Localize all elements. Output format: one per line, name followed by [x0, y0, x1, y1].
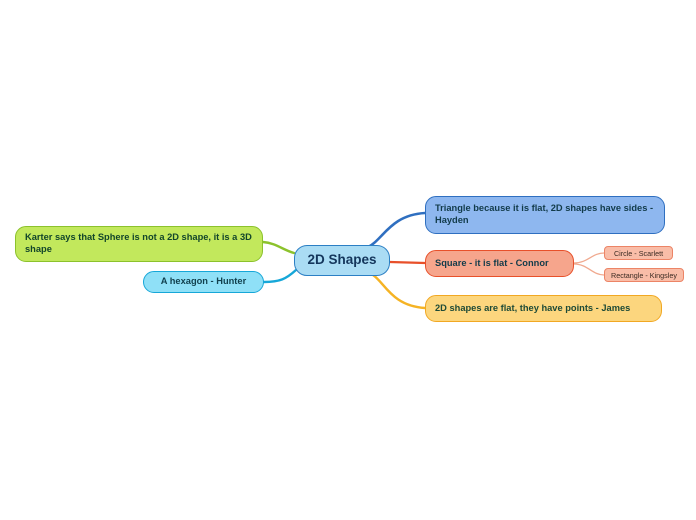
connector-square-to-circle — [574, 253, 604, 263]
node-karter-label: Karter says that Sphere is not a 2D shap… — [25, 232, 253, 255]
connector-square-to-rectangle — [574, 264, 604, 275]
central-node-label: 2D Shapes — [295, 252, 389, 269]
node-karter-sphere[interactable]: Karter says that Sphere is not a 2D shap… — [15, 226, 263, 262]
subnode-rectangle-kingsley[interactable]: Rectangle - Kingsley — [604, 268, 684, 282]
connector-root-to-hexagon — [264, 270, 296, 282]
node-square-connor[interactable]: Square - it is flat - Connor — [425, 250, 574, 277]
connector-root-to-james — [373, 275, 425, 308]
node-triangle-hayden[interactable]: Triangle because it is flat, 2D shapes h… — [425, 196, 665, 234]
node-triangle-label: Triangle because it is flat, 2D shapes h… — [435, 203, 655, 226]
connector-root-to-triangle — [368, 213, 425, 247]
node-square-label: Square - it is flat - Connor — [435, 258, 564, 270]
connector-root-to-square — [390, 262, 425, 263]
node-hexagon-label: A hexagon - Hunter — [153, 276, 254, 288]
mindmap-canvas: 2D Shapes Triangle because it is flat, 2… — [0, 0, 696, 520]
subnode-circle-label: Circle - Scarlett — [614, 249, 663, 258]
node-james-label: 2D shapes are flat, they have points - J… — [435, 303, 652, 315]
connector-root-to-karter — [263, 242, 294, 253]
node-hexagon-hunter[interactable]: A hexagon - Hunter — [143, 271, 264, 293]
subnode-rectangle-label: Rectangle - Kingsley — [611, 271, 677, 280]
node-2d-shapes-flat-james[interactable]: 2D shapes are flat, they have points - J… — [425, 295, 662, 322]
central-node-2d-shapes[interactable]: 2D Shapes — [294, 245, 390, 276]
subnode-circle-scarlett[interactable]: Circle - Scarlett — [604, 246, 673, 260]
